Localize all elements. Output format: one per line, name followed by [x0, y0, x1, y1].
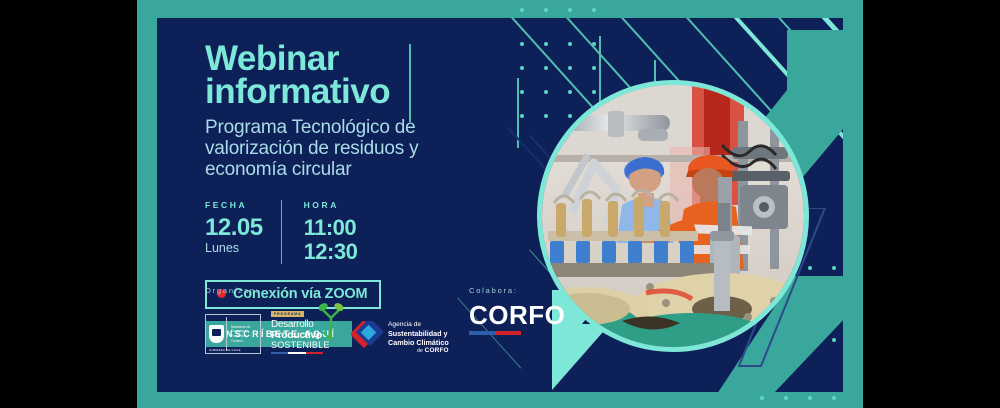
- grid-dot: [568, 8, 572, 12]
- grid-dot: [832, 290, 836, 294]
- logo-agencia-sustentabilidad: Agencia de Sustentabilidad y Cambio Clim…: [351, 321, 449, 354]
- date-column: FECHA 12.05 Lunes: [205, 200, 281, 264]
- collaborator-label: Colabora:: [469, 286, 565, 295]
- time-column: HORA 11:00 12:30: [281, 200, 376, 264]
- coat-of-arms-icon: [209, 325, 224, 343]
- diagonal-line: [809, 18, 843, 164]
- logo-ministerio-economia: Ministerio de Economía, Fomento y Turism…: [205, 314, 261, 354]
- date-weekday: Lunes: [205, 241, 263, 256]
- agencia-de: de: [417, 348, 423, 354]
- grid-dot: [520, 8, 524, 12]
- ministry-line-4: Turismo: [231, 339, 250, 344]
- grid-dot: [568, 42, 572, 46]
- grid-dot: [568, 66, 572, 70]
- grid-dot: [760, 396, 764, 400]
- grid-dot: [592, 8, 596, 12]
- bar-red: [495, 331, 521, 335]
- agencia-line-3: Cambio Climático: [388, 338, 449, 347]
- date-label: FECHA: [205, 200, 263, 210]
- grid-dot: [544, 66, 548, 70]
- grid-dot: [520, 66, 524, 70]
- agencia-corfo: CORFO: [425, 347, 449, 354]
- webinar-photo: [537, 80, 809, 352]
- tick-line: [517, 78, 519, 148]
- webinar-banner: Webinar informativo Programa Tecnológico…: [137, 0, 863, 408]
- grid-dot: [808, 266, 812, 270]
- grid-dot: [544, 8, 548, 12]
- grid-dot: [808, 338, 812, 342]
- grid-dot: [544, 42, 548, 46]
- chile-flag-bars: [271, 352, 323, 355]
- grid-dot: [592, 42, 596, 46]
- logo-divider: [226, 317, 227, 351]
- grid-dot: [520, 90, 524, 94]
- bar-blue: [469, 331, 495, 335]
- screenshot-root: Webinar informativo Programa Tecnológico…: [0, 0, 1000, 408]
- title-line-1: Webinar: [205, 42, 505, 75]
- ministry-footer: GOBIERNO DE CHILE: [209, 349, 241, 352]
- grid-dot: [832, 338, 836, 342]
- page-title: Webinar informativo: [205, 42, 505, 109]
- grid-dot: [808, 314, 812, 318]
- time-start: 11:00: [304, 216, 358, 240]
- dps-cap: PROGRAMA: [271, 311, 304, 317]
- grid-dot: [784, 396, 788, 400]
- agencia-line-1: Agencia de: [388, 321, 449, 329]
- grid-dot: [832, 396, 836, 400]
- time-end: 12:30: [304, 240, 358, 264]
- collaborator-block: Colabora: CORFO: [469, 286, 565, 335]
- bar-blue: [271, 352, 288, 355]
- dot-grid-frame-top: [520, 8, 616, 32]
- date-value: 12.05: [205, 216, 263, 240]
- plant-sprout-icon: [319, 302, 343, 340]
- date-time-block: FECHA 12.05 Lunes HORA 11:00 12:30: [205, 200, 505, 264]
- title-line-2: informativo: [205, 75, 505, 108]
- grid-dot: [592, 66, 596, 70]
- bar-white: [288, 352, 305, 355]
- ministry-lines: Ministerio de Economía, Fomento y Turism…: [231, 325, 250, 344]
- grid-dot: [832, 266, 836, 270]
- dps-line-3: SOSTENIBLE: [271, 341, 341, 350]
- agencia-text: Agencia de Sustentabilidad y Cambio Clim…: [388, 321, 449, 354]
- grid-dot: [832, 314, 836, 318]
- agencia-line-4: de CORFO: [388, 347, 449, 354]
- time-label: HORA: [304, 200, 358, 210]
- grid-dot: [808, 290, 812, 294]
- grid-dot: [808, 396, 812, 400]
- dot-grid-frame-bottom: [760, 396, 856, 408]
- banner-inner-panel: Webinar informativo Programa Tecnológico…: [157, 18, 843, 392]
- photo-illustration: [542, 85, 804, 347]
- grid-dot: [520, 42, 524, 46]
- logo-desarrollo-productivo-sostenible: PROGRAMA Desarrollo Productivo SOSTENIBL…: [271, 302, 341, 354]
- bar-red: [306, 352, 323, 355]
- agencia-line-2: Sustentabilidad y: [388, 329, 449, 338]
- agencia-diamond-icon: [351, 321, 383, 353]
- logo-corfo: CORFO: [469, 302, 565, 328]
- grid-dot: [520, 114, 524, 118]
- subtitle: Programa Tecnológico de valorización de …: [205, 117, 505, 181]
- corfo-flag-bars: [469, 331, 521, 335]
